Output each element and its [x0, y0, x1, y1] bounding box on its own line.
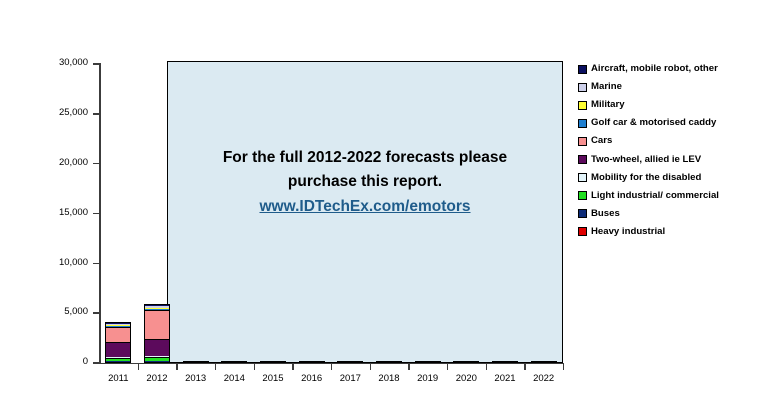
legend-item-label: Cars — [591, 136, 612, 146]
bar-segment — [337, 361, 363, 363]
legend-item[interactable]: Mobility for the disabled — [578, 169, 764, 187]
x-tick-label: 2011 — [98, 373, 138, 384]
bar-segment — [492, 361, 518, 363]
x-tick-mark — [486, 364, 487, 370]
legend-item[interactable]: Marine — [578, 78, 764, 96]
bar-segment — [105, 358, 131, 361]
x-tick-label: 2020 — [446, 373, 486, 384]
x-tick-label: 2014 — [214, 373, 254, 384]
y-tick-label: 25,000 — [59, 107, 88, 118]
legend-color-swatch — [578, 65, 587, 74]
legend-color-swatch — [578, 209, 587, 218]
legend-color-swatch — [578, 173, 587, 182]
x-tick-mark — [370, 364, 371, 370]
legend-item[interactable]: Military — [578, 96, 764, 114]
bar-segment — [144, 304, 170, 306]
bar-2011 — [105, 323, 131, 363]
x-tick-label: 2021 — [485, 373, 525, 384]
y-tick-label: 5,000 — [64, 306, 88, 317]
legend-item[interactable]: Light industrial/ commercial — [578, 187, 764, 205]
legend-color-swatch — [578, 137, 587, 146]
y-tick-label: 0 — [83, 356, 88, 367]
legend-color-swatch — [578, 191, 587, 200]
x-tick-label: 2022 — [524, 373, 564, 384]
legend-color-swatch — [578, 83, 587, 92]
bar-segment — [105, 327, 131, 341]
x-tick-mark — [176, 364, 177, 370]
bar-segment — [183, 361, 209, 363]
bar-2019 — [415, 361, 441, 363]
y-tick-label: 10,000 — [59, 257, 88, 268]
chart-legend: Aircraft, mobile robot, otherMarineMilit… — [578, 60, 764, 241]
stacked-bar-chart: Number (thousand) 05,00010,00015,00020,0… — [0, 0, 767, 410]
bar-2018 — [376, 361, 402, 363]
bar-segment — [260, 361, 286, 363]
legend-color-swatch — [578, 101, 587, 110]
bar-2015 — [260, 361, 286, 363]
x-tick-mark — [524, 364, 525, 370]
legend-item[interactable]: Aircraft, mobile robot, other — [578, 60, 764, 78]
legend-item-label: Two-wheel, allied ie LEV — [591, 155, 701, 165]
y-tick-label: 30,000 — [59, 57, 88, 68]
x-tick-mark — [563, 364, 564, 370]
legend-item-label: Aircraft, mobile robot, other — [591, 64, 718, 74]
x-tick-label: 2019 — [408, 373, 448, 384]
x-tick-label: 2012 — [137, 373, 177, 384]
legend-item[interactable]: Golf car & motorised caddy — [578, 114, 764, 132]
x-tick-mark — [447, 364, 448, 370]
bar-segment — [105, 342, 131, 357]
x-tick-mark — [254, 364, 255, 370]
bar-2016 — [299, 361, 325, 363]
legend-item-label: Golf car & motorised caddy — [591, 118, 716, 128]
legend-item-label: Military — [591, 100, 625, 110]
legend-item-label: Mobility for the disabled — [591, 173, 701, 183]
x-tick-label: 2018 — [369, 373, 409, 384]
bar-segment — [376, 361, 402, 363]
bar-segment — [531, 361, 557, 363]
legend-color-swatch — [578, 119, 587, 128]
x-tick-label: 2017 — [330, 373, 370, 384]
bar-segment — [144, 310, 170, 339]
bar-2021 — [492, 361, 518, 363]
bar-segment — [299, 361, 325, 363]
legend-color-swatch — [578, 227, 587, 236]
bar-2017 — [337, 361, 363, 363]
bar-segment — [221, 361, 247, 363]
legend-item[interactable]: Heavy industrial — [578, 223, 764, 241]
bar-2013 — [183, 361, 209, 363]
plot-area — [99, 64, 563, 363]
legend-item-label: Heavy industrial — [591, 227, 665, 237]
y-tick-label: 15,000 — [59, 207, 88, 218]
x-tick-mark — [138, 364, 139, 370]
x-tick-mark — [408, 364, 409, 370]
bar-2012 — [144, 305, 170, 363]
bar-segment — [144, 339, 170, 356]
legend-item-label: Buses — [591, 209, 620, 219]
x-tick-mark — [292, 364, 293, 370]
y-tick-label: 20,000 — [59, 157, 88, 168]
legend-item[interactable]: Two-wheel, allied ie LEV — [578, 150, 764, 168]
x-tick-label: 2015 — [253, 373, 293, 384]
bar-2014 — [221, 361, 247, 363]
bar-2020 — [453, 361, 479, 363]
x-tick-label: 2013 — [176, 373, 216, 384]
x-tick-mark — [215, 364, 216, 370]
bar-segment — [105, 322, 131, 324]
legend-item-label: Marine — [591, 82, 622, 92]
legend-color-swatch — [578, 155, 587, 164]
legend-item-label: Light industrial/ commercial — [591, 191, 719, 201]
bar-segment — [144, 357, 170, 361]
x-tick-mark — [331, 364, 332, 370]
legend-item[interactable]: Cars — [578, 132, 764, 150]
legend-item[interactable]: Buses — [578, 205, 764, 223]
bar-segment — [453, 361, 479, 363]
bar-segment — [415, 361, 441, 363]
bar-2022 — [531, 361, 557, 363]
x-tick-label: 2016 — [292, 373, 332, 384]
